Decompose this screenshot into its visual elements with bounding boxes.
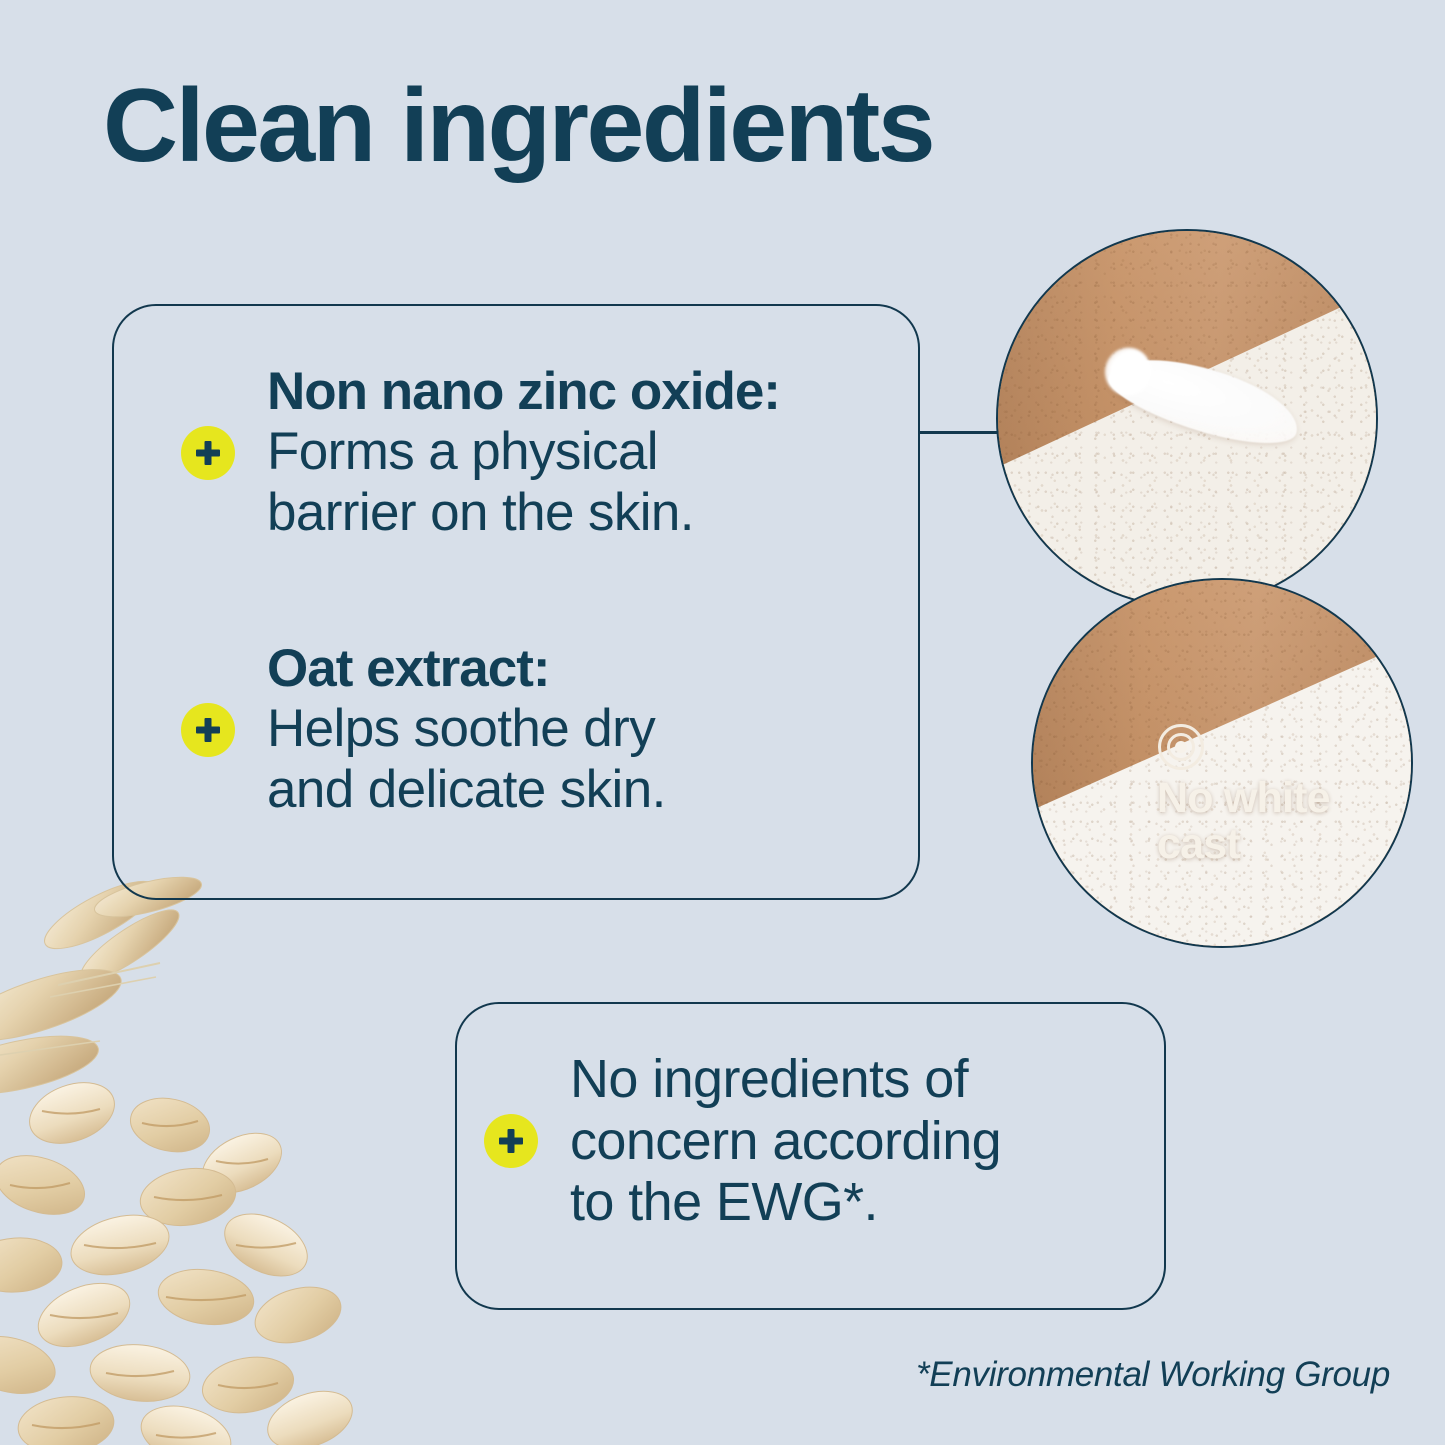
bullet-zinc-line1: Forms a physical bbox=[267, 422, 780, 482]
footnote: *Environmental Working Group bbox=[916, 1355, 1390, 1395]
no-white-cast-label: No white cast bbox=[1157, 776, 1372, 867]
bullet-ewg-line1: No ingredients of bbox=[570, 1049, 1001, 1111]
bullet-ewg-line3: to the EWG*. bbox=[570, 1172, 1001, 1234]
page-title: Clean ingredients bbox=[103, 72, 933, 181]
card-to-photo-connector bbox=[918, 431, 1004, 434]
photo-no-white-cast: No white cast bbox=[1031, 578, 1413, 948]
oat-spikelet-group bbox=[0, 869, 205, 1105]
bullet-ewg: No ingredients of concern according to t… bbox=[484, 1049, 1001, 1234]
bullet-zinc-line2: barrier on the skin. bbox=[267, 483, 780, 543]
bullet-oat-extract: Oat extract: Helps soothe dry and delica… bbox=[181, 639, 666, 820]
plus-icon bbox=[181, 426, 235, 480]
bullet-zinc-oxide: Non nano zinc oxide: Forms a physical ba… bbox=[181, 362, 780, 543]
skin-texture bbox=[1033, 580, 1411, 946]
oat-decoration bbox=[0, 845, 380, 1445]
photo-cream-swatch bbox=[996, 229, 1378, 608]
ripple-target-icon bbox=[1158, 724, 1204, 770]
bullet-oat-text: Oat extract: Helps soothe dry and delica… bbox=[267, 639, 666, 820]
plus-icon bbox=[484, 1114, 538, 1168]
bullet-zinc-text: Non nano zinc oxide: Forms a physical ba… bbox=[267, 362, 780, 543]
bullet-oat-line2: and delicate skin. bbox=[267, 760, 666, 820]
bullet-oat-lead: Oat extract: bbox=[267, 639, 666, 699]
no-white-cast-line1: No white bbox=[1157, 774, 1330, 822]
plus-icon bbox=[181, 703, 235, 757]
no-white-cast-line2: cast bbox=[1157, 820, 1240, 868]
bullet-ewg-line2: concern according bbox=[570, 1111, 1001, 1173]
bullet-zinc-lead: Non nano zinc oxide: bbox=[267, 362, 780, 422]
infographic-canvas: Clean ingredients bbox=[0, 0, 1445, 1445]
bullet-ewg-text: No ingredients of concern according to t… bbox=[570, 1049, 1001, 1234]
ripple-center-dot bbox=[1175, 741, 1187, 753]
oat-flake-group bbox=[0, 1072, 360, 1445]
bullet-oat-line1: Helps soothe dry bbox=[267, 699, 666, 759]
